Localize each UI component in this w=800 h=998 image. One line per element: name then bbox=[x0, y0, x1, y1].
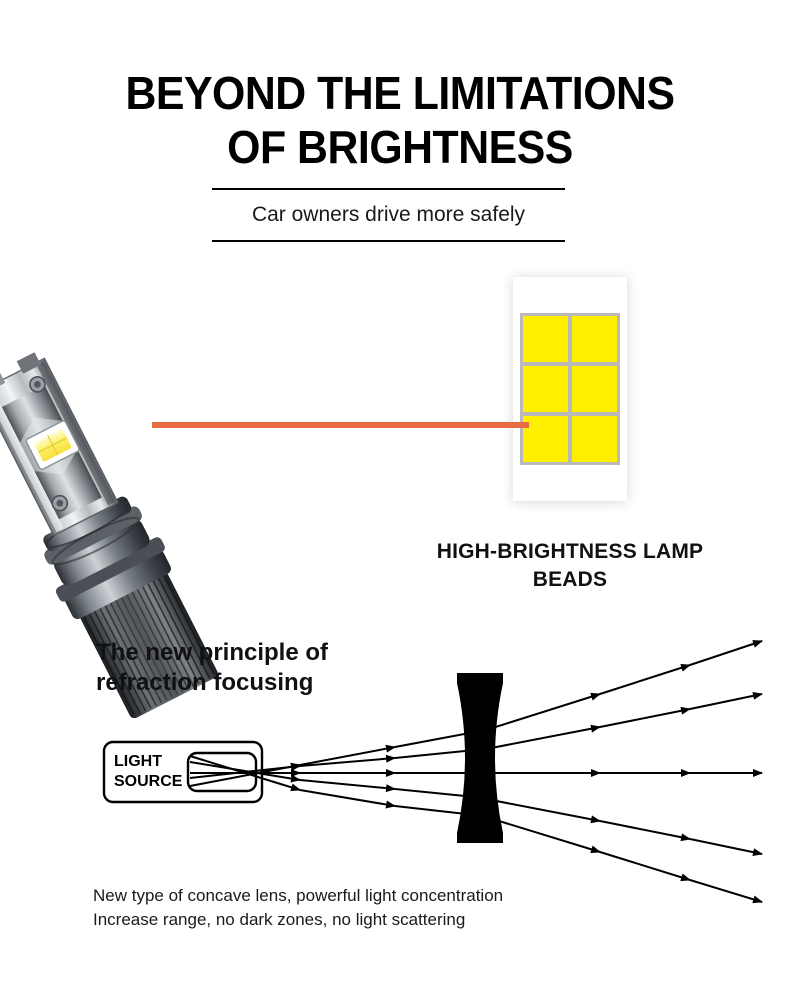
headline-line-2: OF BRIGHTNESS bbox=[28, 122, 772, 172]
lamp-bead-cell bbox=[523, 416, 568, 462]
diagram-caption-line-1: New type of concave lens, powerful light… bbox=[93, 884, 713, 908]
promo-page: BEYOND THE LIMITATIONS OF BRIGHTNESS Car… bbox=[0, 0, 800, 998]
divider-bottom bbox=[212, 240, 565, 242]
subtitle-block: Car owners drive more safely bbox=[212, 188, 565, 242]
subtitle-text: Car owners drive more safely bbox=[212, 190, 565, 240]
lamp-bead-caption-line-1: HIGH-BRIGHTNESS bbox=[437, 540, 637, 563]
light-source-label-line-2: SOURCE bbox=[114, 773, 183, 790]
diagram-caption-line-2: Increase range, no dark zones, no light … bbox=[93, 908, 713, 932]
refraction-diagram: LIGHT SOURCE bbox=[0, 610, 800, 910]
ray-diagram-svg: LIGHT SOURCE bbox=[0, 610, 800, 910]
lamp-bead-cell bbox=[572, 366, 617, 412]
lamp-bead-cell bbox=[572, 416, 617, 462]
lamp-bead-grid bbox=[520, 313, 620, 465]
diagram-caption: New type of concave lens, powerful light… bbox=[93, 884, 713, 932]
concave-lens bbox=[457, 673, 503, 843]
callout-pointer-line bbox=[152, 422, 529, 428]
lamp-bead-cell bbox=[572, 316, 617, 362]
lamp-bead-card bbox=[513, 277, 627, 501]
lamp-bead-caption: HIGH-BRIGHTNESS LAMP BEADS bbox=[400, 538, 740, 594]
lamp-bead-cell bbox=[523, 316, 568, 362]
light-source-label-line-1: LIGHT bbox=[114, 753, 162, 770]
lamp-bead-cell bbox=[523, 366, 568, 412]
page-title: BEYOND THE LIMITATIONS OF BRIGHTNESS bbox=[28, 68, 772, 172]
headline-line-1: BEYOND THE LIMITATIONS bbox=[28, 68, 772, 118]
